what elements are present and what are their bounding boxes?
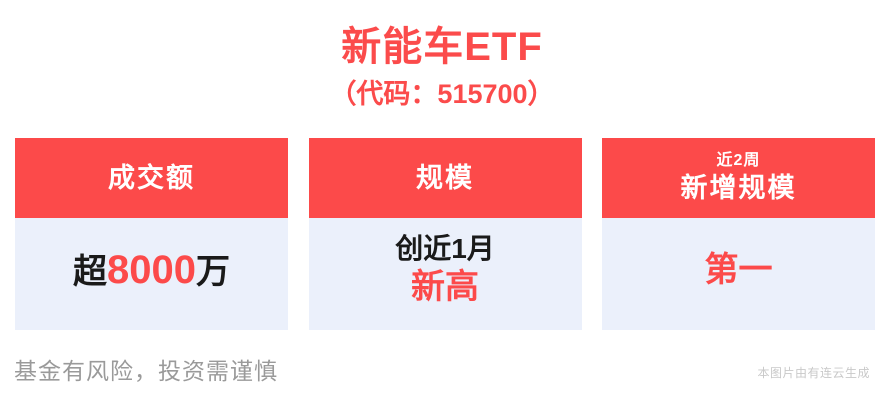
metric-card-header: 成交额	[15, 138, 288, 218]
metric-card-header-label: 新增规模	[681, 171, 797, 205]
metric-cards-row: 成交额超8000万规模创近1月新高近2周新增规模第一	[15, 138, 875, 330]
metric-card-header: 近2周新增规模	[602, 138, 875, 218]
metric-value-segment: 新高	[411, 266, 479, 309]
watermark-text: 本图片由有连云生成	[757, 364, 870, 382]
metric-card-body: 第一	[602, 218, 875, 330]
metric-card-header-sublabel: 近2周	[717, 151, 761, 171]
metric-value-segment: 超	[73, 251, 107, 294]
metric-value-segment: 8000	[107, 245, 196, 295]
page-title: 新能车ETF	[0, 22, 884, 72]
metric-card: 规模创近1月新高	[309, 138, 582, 330]
metric-value-line: 第一	[705, 249, 773, 292]
metric-card-body: 创近1月新高	[309, 218, 582, 330]
metric-value-segment: 万	[196, 251, 230, 294]
metric-value-line: 创近1月	[395, 231, 495, 266]
metric-value-line: 新高	[411, 266, 479, 309]
metric-card-header-label: 成交额	[108, 161, 195, 195]
metric-card-header-label: 规模	[416, 161, 474, 195]
metric-card: 成交额超8000万	[15, 138, 288, 330]
metric-card: 近2周新增规模第一	[602, 138, 875, 330]
metric-value-segment: 第一	[705, 249, 773, 292]
risk-disclaimer: 基金有风险，投资需谨慎	[14, 355, 278, 387]
metric-value-segment: 创近1月	[395, 231, 495, 266]
title-block: 新能车ETF （代码：515700）	[0, 22, 884, 112]
fund-code-subtitle: （代码：515700）	[0, 76, 884, 112]
metric-card-body: 超8000万	[15, 218, 288, 330]
metric-value-line: 超8000万	[73, 245, 230, 295]
metric-card-header: 规模	[309, 138, 582, 218]
